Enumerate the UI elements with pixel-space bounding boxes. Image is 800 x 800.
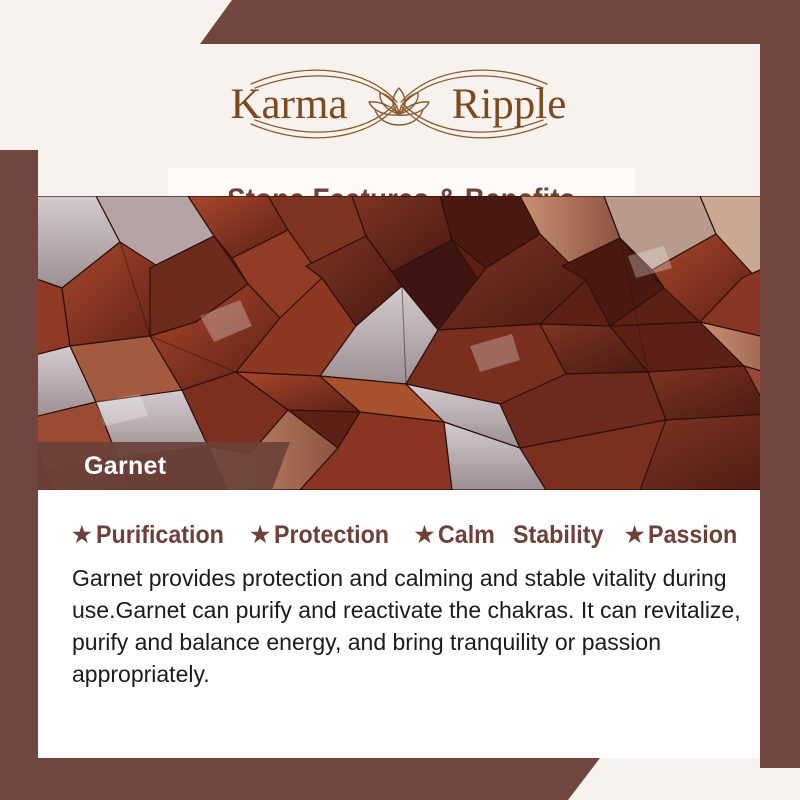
feature-label: Purification — [96, 521, 224, 550]
stone-name-ribbon: Garnet — [38, 442, 290, 490]
feature-item-passion: ★ Passion — [625, 521, 745, 550]
page-content: Karma Ripple Stone Features & Benefits — [38, 44, 760, 758]
infographic-canvas: Karma Ripple Stone Features & Benefits — [0, 0, 800, 800]
feature-list: ★ Purification ★ Protection ★ Calm Stabi… — [72, 518, 752, 552]
frame-top-bar — [0, 0, 800, 44]
feature-item-calm: ★ Calm — [415, 521, 500, 550]
feature-item-protection: ★ Protection — [250, 521, 397, 550]
lotus-icon — [369, 88, 429, 125]
frame-left-bar — [0, 150, 38, 800]
feature-label: Passion — [648, 521, 737, 550]
stone-name: Garnet — [84, 452, 166, 481]
logo-word-left: Karma — [231, 81, 348, 128]
feature-label: Calm — [438, 521, 495, 550]
brand-logo: Karma Ripple — [38, 44, 760, 168]
benefits-card: ★ Purification ★ Protection ★ Calm Stabi… — [38, 490, 760, 758]
stone-description: Garnet provides protection and calming a… — [72, 562, 744, 690]
feature-item-purification: ★ Purification — [72, 521, 233, 550]
star-icon: ★ — [250, 524, 270, 546]
feature-item-stability: Stability — [513, 521, 610, 550]
frame-bottom-bar — [0, 758, 800, 800]
frame-right-bar — [760, 0, 800, 768]
star-icon: ★ — [72, 524, 92, 546]
feature-label: Stability — [513, 521, 603, 550]
star-icon: ★ — [625, 524, 645, 546]
star-icon: ★ — [415, 524, 435, 546]
feature-label: Protection — [274, 521, 389, 550]
logo-word-right: Ripple — [452, 81, 567, 128]
karma-ripple-logo-svg: Karma Ripple — [189, 58, 609, 154]
